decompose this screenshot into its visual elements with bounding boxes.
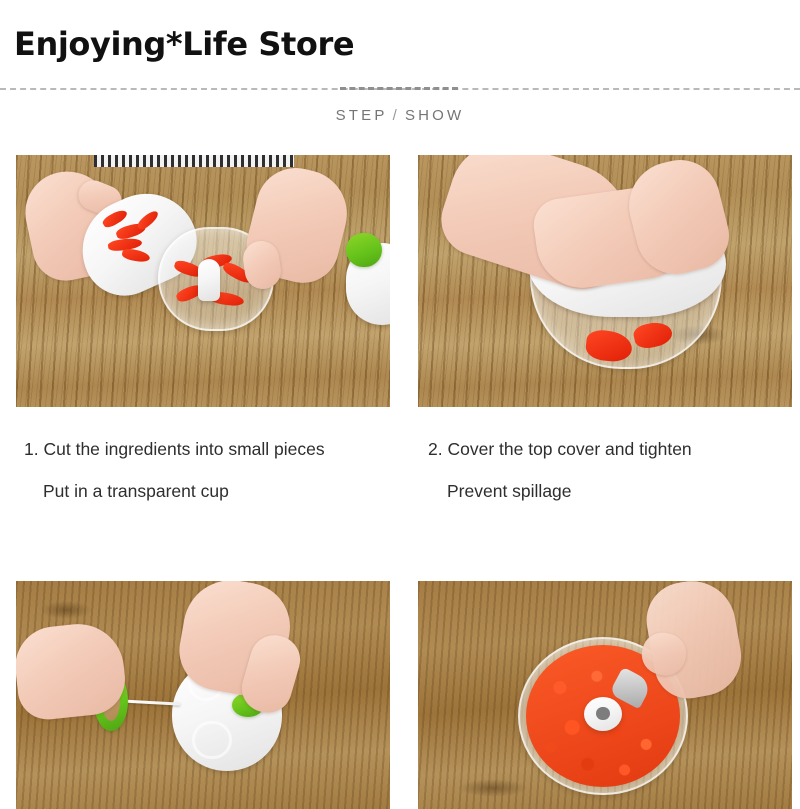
striped-cloth [94,155,294,167]
step-cell-3: 3. Hold the rope with your hand Pulling … [0,581,400,809]
spindle-center [596,707,610,720]
wood-knot [458,779,528,797]
page-title: Enjoying*Life Store [14,24,354,64]
row-spacer [0,523,800,581]
steps-row-2: 3. Hold the rope with your hand Pulling … [0,581,800,809]
section-label-separator: / [388,107,405,124]
step-photo-1 [16,155,390,407]
wood-knot [40,601,92,619]
section-label-step: STEP [336,107,388,124]
step-caption-2-line2: Prevent spillage [428,481,792,502]
step-caption-1-line1: 1. Cut the ingredients into small pieces [24,439,390,460]
step-cell-4: 4. Pull to the extent you want You can [400,581,800,809]
step-photo-2 [418,155,792,407]
lid-swirl [192,721,232,759]
step-cell-1: 1. Cut the ingredients into small pieces… [0,155,400,523]
blade-spindle [198,259,220,301]
header-divider-accent [340,87,458,90]
step-caption-2: 2. Cover the top cover and tighten Preve… [418,407,792,523]
step-photo-4 [418,581,792,809]
steps-row-1: 1. Cut the ingredients into small pieces… [0,155,800,523]
green-handle [346,233,382,267]
step-caption-2-line1: 2. Cover the top cover and tighten [428,439,792,460]
section-label: STEP/SHOW [0,107,800,124]
step-caption-1: 1. Cut the ingredients into small pieces… [16,407,390,523]
step-photo-3 [16,581,390,809]
product-instruction-page: Enjoying*Life Store STEP/SHOW [0,0,800,809]
step-cell-2: 2. Cover the top cover and tighten Preve… [400,155,800,523]
steps-grid: 1. Cut the ingredients into small pieces… [0,155,800,809]
step-caption-1-line2: Put in a transparent cup [24,481,390,502]
section-label-show: SHOW [405,107,464,124]
